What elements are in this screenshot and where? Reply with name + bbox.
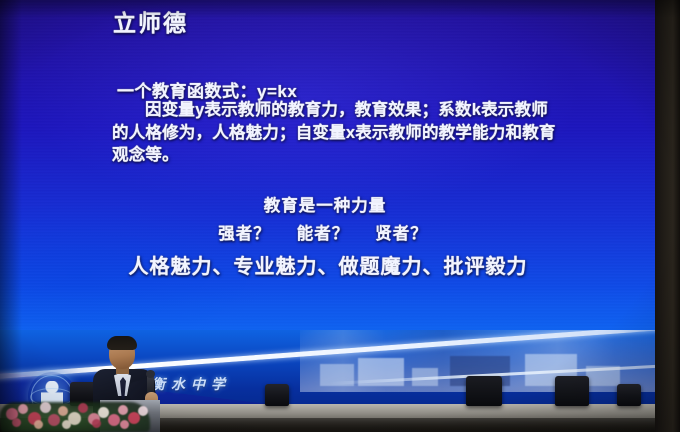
question-strong: 强者？ — [218, 224, 271, 243]
stage-floor-monitor — [265, 384, 289, 406]
flower-bloom — [40, 402, 51, 413]
paragraph-line2-post: 表示教师的教学能力和教 — [355, 123, 539, 142]
stage-floor-monitor — [466, 376, 502, 406]
flower-bloom — [78, 403, 88, 413]
floral-arrangement — [0, 392, 150, 432]
slide-paragraph: 因变量y表示教师的教育力，教育效果；系数k表示教师的人格修为，人格魅力；自变量x… — [112, 99, 557, 166]
stage-floor-monitor — [555, 376, 589, 406]
flower-bloom — [118, 405, 128, 415]
question-wise: 贤者？ — [375, 224, 428, 243]
slide-title: 立师德 — [113, 10, 188, 39]
room-pillar — [655, 0, 680, 432]
paragraph-variable-y: y — [195, 101, 204, 119]
stage-floor-monitor — [617, 384, 641, 406]
flower-bloom — [108, 414, 120, 426]
flower-bloom — [98, 407, 109, 418]
flower-bloom — [34, 420, 43, 429]
paragraph-line2-pre: 的人格修为，人格魅力；自变量 — [112, 123, 346, 142]
paragraph-line1-post2: 表示教师 — [481, 100, 548, 119]
paragraph-variable-k: k — [472, 101, 481, 119]
paragraph-line1-pre: 因变量 — [145, 100, 195, 119]
slide-center-line-2: 强者？能者？贤者？ — [0, 220, 658, 244]
presenter-hair — [107, 336, 137, 350]
projector-glow — [0, 0, 658, 352]
slide-center-line-1: 教育是一种力量 — [0, 192, 658, 216]
flower-bloom — [48, 414, 60, 426]
projected-slide: 立师德 一个教育函数式：y=kx 因变量y表示教师的教育力，教育效果；系数k表示… — [0, 0, 658, 352]
flower-bloom — [18, 404, 28, 414]
flower-bloom — [58, 406, 68, 416]
flower-bloom — [62, 420, 71, 429]
flower-bloom — [120, 420, 129, 429]
screen-scanlines — [0, 0, 658, 352]
flower-bloom — [92, 419, 101, 428]
flower-bloom — [138, 406, 148, 416]
stage-photo: 立师德 一个教育函数式：y=kx 因变量y表示教师的教育力，教育效果；系数k表示… — [0, 0, 680, 432]
slide-center-line-3: 人格魅力、专业魅力、做题魔力、批评毅力 — [108, 253, 548, 281]
flower-bloom — [12, 418, 21, 427]
paragraph-line1-post: 表示教师的教育力，教育效果；系数 — [205, 100, 472, 119]
paragraph-variable-x: x — [346, 124, 355, 142]
question-able: 能者？ — [297, 224, 350, 243]
